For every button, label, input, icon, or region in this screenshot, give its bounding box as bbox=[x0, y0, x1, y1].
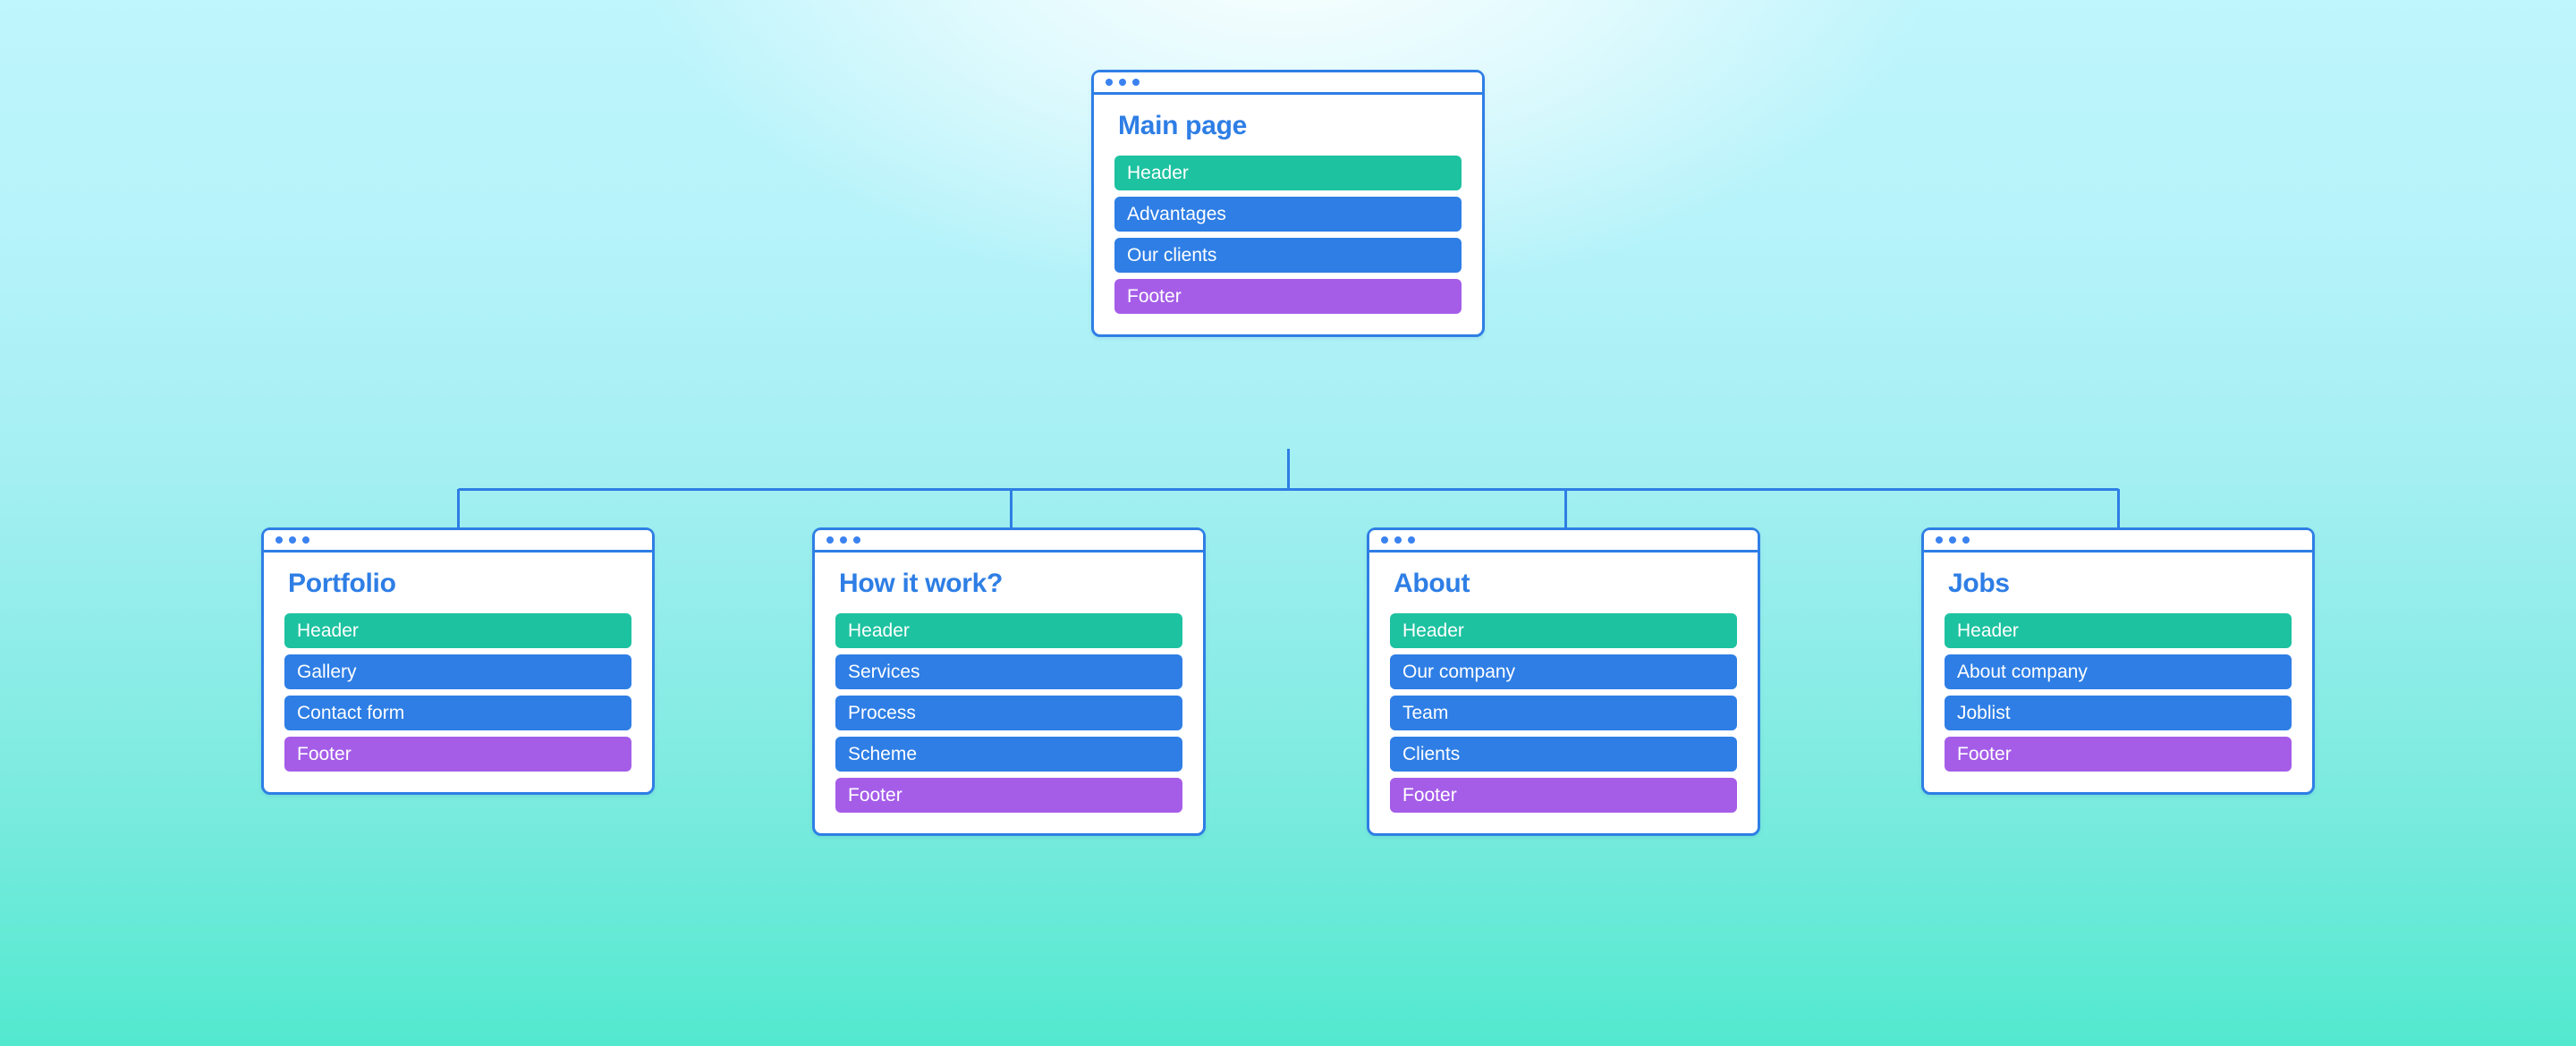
window-dot-icon bbox=[1106, 79, 1113, 86]
section-row[interactable]: Gallery bbox=[284, 654, 631, 689]
section-row[interactable]: Clients bbox=[1390, 737, 1737, 772]
section-row[interactable]: Footer bbox=[1390, 778, 1737, 813]
page-card-jobs[interactable]: Jobs Header About company Joblist Footer bbox=[1921, 527, 2315, 795]
section-list: Header About company Joblist Footer bbox=[1945, 613, 2292, 772]
section-row[interactable]: Footer bbox=[1114, 279, 1462, 314]
section-row[interactable]: Header bbox=[1390, 613, 1737, 648]
window-dot-icon bbox=[853, 536, 860, 544]
section-row[interactable]: About company bbox=[1945, 654, 2292, 689]
card-titlebar bbox=[1369, 530, 1758, 553]
sitemap-diagram-canvas: Main page Header Advantages Our clients … bbox=[0, 0, 2576, 1046]
section-row[interactable]: Footer bbox=[1945, 737, 2292, 772]
window-dot-icon bbox=[1394, 536, 1402, 544]
card-titlebar bbox=[815, 530, 1203, 553]
section-row[interactable]: Services bbox=[835, 654, 1182, 689]
card-body: How it work? Header Services Process Sch… bbox=[815, 553, 1203, 833]
section-row[interactable]: Joblist bbox=[1945, 696, 2292, 730]
page-card-how-it-work[interactable]: How it work? Header Services Process Sch… bbox=[812, 527, 1206, 836]
page-card-about[interactable]: About Header Our company Team Clients Fo… bbox=[1367, 527, 1760, 836]
window-dot-icon bbox=[1119, 79, 1126, 86]
window-dot-icon bbox=[840, 536, 847, 544]
page-title: How it work? bbox=[839, 569, 1182, 598]
section-row[interactable]: Header bbox=[284, 613, 631, 648]
section-row[interactable]: Contact form bbox=[284, 696, 631, 730]
card-body: Jobs Header About company Joblist Footer bbox=[1924, 553, 2312, 792]
section-list: Header Our company Team Clients Footer bbox=[1390, 613, 1737, 813]
card-body: About Header Our company Team Clients Fo… bbox=[1369, 553, 1758, 833]
card-body: Portfolio Header Gallery Contact form Fo… bbox=[264, 553, 652, 792]
window-dot-icon bbox=[1962, 536, 1970, 544]
section-row[interactable]: Footer bbox=[284, 737, 631, 772]
window-dot-icon bbox=[302, 536, 309, 544]
section-row[interactable]: Scheme bbox=[835, 737, 1182, 772]
window-dot-icon bbox=[1132, 79, 1140, 86]
page-card-portfolio[interactable]: Portfolio Header Gallery Contact form Fo… bbox=[261, 527, 655, 795]
section-row[interactable]: Header bbox=[1114, 156, 1462, 190]
section-list: Header Gallery Contact form Footer bbox=[284, 613, 631, 772]
page-title: Main page bbox=[1118, 111, 1462, 140]
section-row[interactable]: Our clients bbox=[1114, 238, 1462, 273]
page-title: Jobs bbox=[1948, 569, 2292, 598]
card-titlebar bbox=[264, 530, 652, 553]
section-row[interactable]: Header bbox=[1945, 613, 2292, 648]
section-list: Header Advantages Our clients Footer bbox=[1114, 156, 1462, 314]
section-row[interactable]: Process bbox=[835, 696, 1182, 730]
window-dot-icon bbox=[1408, 536, 1415, 544]
card-titlebar bbox=[1924, 530, 2312, 553]
section-row[interactable]: Header bbox=[835, 613, 1182, 648]
page-title: Portfolio bbox=[288, 569, 631, 598]
page-title: About bbox=[1394, 569, 1737, 598]
section-row[interactable]: Team bbox=[1390, 696, 1737, 730]
window-dot-icon bbox=[1936, 536, 1943, 544]
window-dot-icon bbox=[289, 536, 296, 544]
section-row[interactable]: Footer bbox=[835, 778, 1182, 813]
section-list: Header Services Process Scheme Footer bbox=[835, 613, 1182, 813]
section-row[interactable]: Our company bbox=[1390, 654, 1737, 689]
window-dot-icon bbox=[826, 536, 834, 544]
window-dot-icon bbox=[1949, 536, 1956, 544]
section-row[interactable]: Advantages bbox=[1114, 197, 1462, 232]
window-dot-icon bbox=[275, 536, 283, 544]
window-dot-icon bbox=[1381, 536, 1388, 544]
card-titlebar bbox=[1094, 72, 1482, 95]
card-body: Main page Header Advantages Our clients … bbox=[1094, 95, 1482, 334]
page-card-main[interactable]: Main page Header Advantages Our clients … bbox=[1091, 70, 1485, 337]
